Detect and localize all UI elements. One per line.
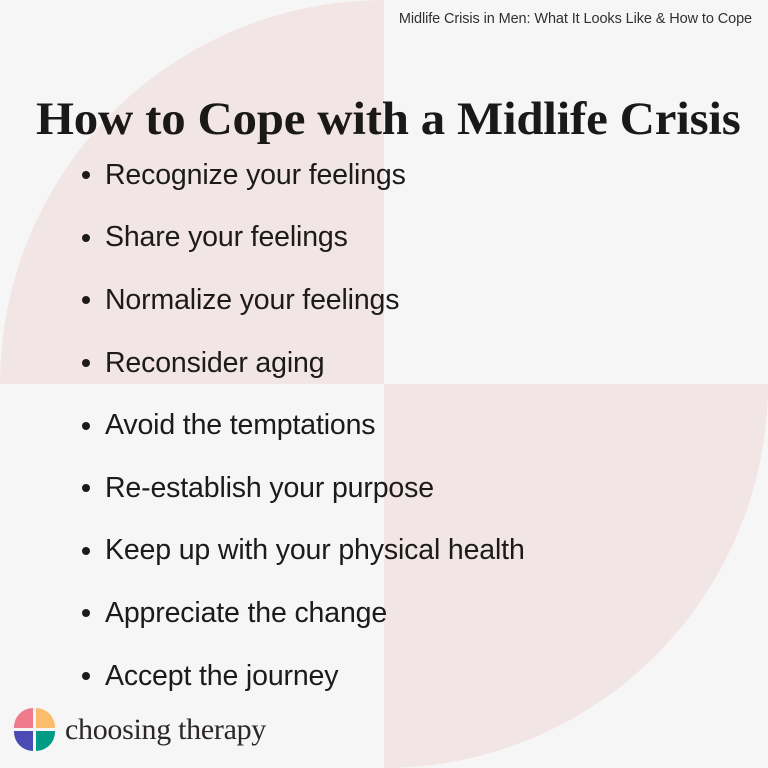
petal-top-left-icon <box>14 708 33 728</box>
brand-logo: choosing therapy <box>14 708 266 751</box>
list-item: Keep up with your physical health <box>0 520 768 583</box>
list-item: Share your feelings <box>0 207 768 270</box>
list-item-label: Avoid the temptations <box>105 409 375 442</box>
petal-bottom-right-icon <box>36 731 55 751</box>
petal-bottom-left-icon <box>14 731 33 751</box>
list-item: Re-establish your purpose <box>0 457 768 520</box>
list-item-label: Appreciate the change <box>105 597 387 630</box>
list-item: Recognize your feelings <box>0 144 768 207</box>
list-item-label: Recognize your feelings <box>105 159 406 192</box>
list-item-label: Re-establish your purpose <box>105 472 434 505</box>
list-item-label: Share your feelings <box>105 221 348 254</box>
petal-top-right-icon <box>36 708 55 728</box>
article-eyebrow: Midlife Crisis in Men: What It Looks Lik… <box>152 11 752 27</box>
list-item-label: Accept the journey <box>105 660 338 693</box>
list-item: Avoid the temptations <box>0 394 768 457</box>
list-item: Normalize your feelings <box>0 269 768 332</box>
list-item: Appreciate the change <box>0 582 768 645</box>
brand-name: choosing therapy <box>65 713 266 747</box>
page-title: How to Cope with a Midlife Crisis <box>36 92 768 146</box>
list-item: Reconsider aging <box>0 332 768 395</box>
infographic-canvas: Midlife Crisis in Men: What It Looks Lik… <box>0 0 768 768</box>
list-item-label: Normalize your feelings <box>105 284 399 317</box>
list-item: Accept the journey <box>0 645 768 708</box>
list-item-label: Reconsider aging <box>105 347 324 380</box>
flower-petal-logo-icon <box>14 708 55 751</box>
coping-tips-list: Recognize your feelings Share your feeli… <box>0 144 768 707</box>
list-item-label: Keep up with your physical health <box>105 534 525 567</box>
